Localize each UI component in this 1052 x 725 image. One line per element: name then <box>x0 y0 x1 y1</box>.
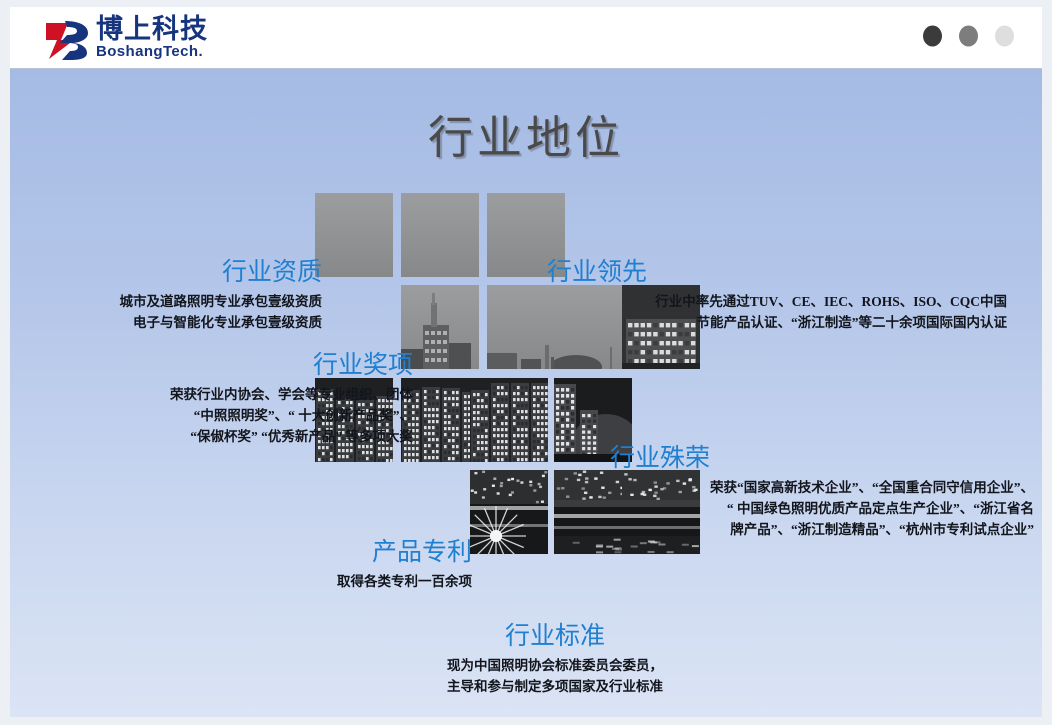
header-dots <box>923 26 1014 47</box>
logo-text-en: BoshangTech. <box>96 43 276 60</box>
block-awards-line-2: “保俶杯奖” “优秀新产品” 等多项大奖 <box>98 426 413 447</box>
block-honors-line-0: 荣获“国家高新技术企业”、“全国重合同守信用企业”、 <box>610 477 1034 498</box>
block-leading-heading: 行业领先 <box>547 257 1007 287</box>
block-patent-line-0: 取得各类专利一百余项 <box>260 571 472 592</box>
dot-dark-icon <box>923 26 942 47</box>
photo-tile-r1c2 <box>401 193 479 277</box>
block-qualification-line-0: 城市及道路照明专业承包壹级资质 <box>50 291 322 312</box>
dot-medium-icon <box>959 26 978 47</box>
block-qualification-line-1: 电子与智能化专业承包壹级资质 <box>50 312 322 333</box>
block-leading: 行业领先 行业中率先通过TUV、CE、IEC、ROHS、ISO、CQC中国节能产… <box>547 257 1007 333</box>
block-qualification-body: 城市及道路照明专业承包壹级资质电子与智能化专业承包壹级资质 <box>50 291 322 333</box>
block-patent-body: 取得各类专利一百余项 <box>260 571 472 592</box>
block-awards-line-0: 荣获行业内协会、学会等专业组织、团体 <box>98 384 413 405</box>
block-qualification-heading: 行业资质 <box>50 257 322 287</box>
company-logo: 博上科技 BoshangTech. <box>44 17 274 63</box>
dot-light-icon <box>995 26 1014 47</box>
block-patent: 产品专利 取得各类专利一百余项 <box>260 537 472 592</box>
block-honors-line-1: “ 中国绿色照明优质产品定点生产企业”、“浙江省名 <box>610 498 1034 519</box>
slide-body: 行业地位 行业资质 城市及道路照明专业承包壹级资质电子与智能化专业承包壹级资质 … <box>10 69 1042 717</box>
block-standard-line-0: 现为中国照明协会标准委员会委员， <box>390 655 720 676</box>
block-awards-heading: 行业奖项 <box>98 350 413 380</box>
block-honors-line-2: 牌产品”、“浙江制造精品”、“杭州市专利试点企业” <box>610 519 1034 540</box>
block-qualification: 行业资质 城市及道路照明专业承包壹级资质电子与智能化专业承包壹级资质 <box>50 257 322 333</box>
block-leading-body: 行业中率先通过TUV、CE、IEC、ROHS、ISO、CQC中国节能产品认证、“… <box>547 291 1007 333</box>
boshang-b-logo-icon <box>44 19 90 61</box>
photo-tile-r1c1 <box>315 193 393 277</box>
slide-frame: 博上科技 BoshangTech. 行业地位 行业资质 城市及道路照明专业承包壹… <box>0 0 1052 725</box>
header-bar: 博上科技 BoshangTech. <box>10 7 1042 69</box>
block-honors-body: 荣获“国家高新技术企业”、“全国重合同守信用企业”、“ 中国绿色照明优质产品定点… <box>610 477 1034 540</box>
block-honors: 行业殊荣 荣获“国家高新技术企业”、“全国重合同守信用企业”、“ 中国绿色照明优… <box>610 443 1034 540</box>
photo-tile-r4c1 <box>470 470 548 554</box>
block-leading-line-1: 节能产品认证、“浙江制造”等二十余项国际国内认证 <box>547 312 1007 333</box>
photo-tile-r3c3 <box>470 378 548 462</box>
block-standard-line-1: 主导和参与制定多项国家及行业标准 <box>390 676 720 697</box>
block-awards: 行业奖项 荣获行业内协会、学会等专业组织、团体“中照照明奖”、“ 十大创新产品奖… <box>98 350 413 447</box>
logo-text-cn: 博上科技 <box>96 15 276 43</box>
logo-wordmark: 博上科技 BoshangTech. <box>96 15 276 63</box>
block-awards-body: 荣获行业内协会、学会等专业组织、团体“中照照明奖”、“ 十大创新产品奖”、“保俶… <box>98 384 413 447</box>
block-standard-heading: 行业标准 <box>390 621 720 651</box>
block-patent-heading: 产品专利 <box>260 537 472 567</box>
block-leading-line-0: 行业中率先通过TUV、CE、IEC、ROHS、ISO、CQC中国 <box>547 291 1007 312</box>
block-honors-heading: 行业殊荣 <box>610 443 1034 473</box>
block-standard-body: 现为中国照明协会标准委员会委员，主导和参与制定多项国家及行业标准 <box>390 655 720 697</box>
block-awards-line-1: “中照照明奖”、“ 十大创新产品奖”、 <box>98 405 413 426</box>
block-standard: 行业标准 现为中国照明协会标准委员会委员，主导和参与制定多项国家及行业标准 <box>390 621 720 697</box>
